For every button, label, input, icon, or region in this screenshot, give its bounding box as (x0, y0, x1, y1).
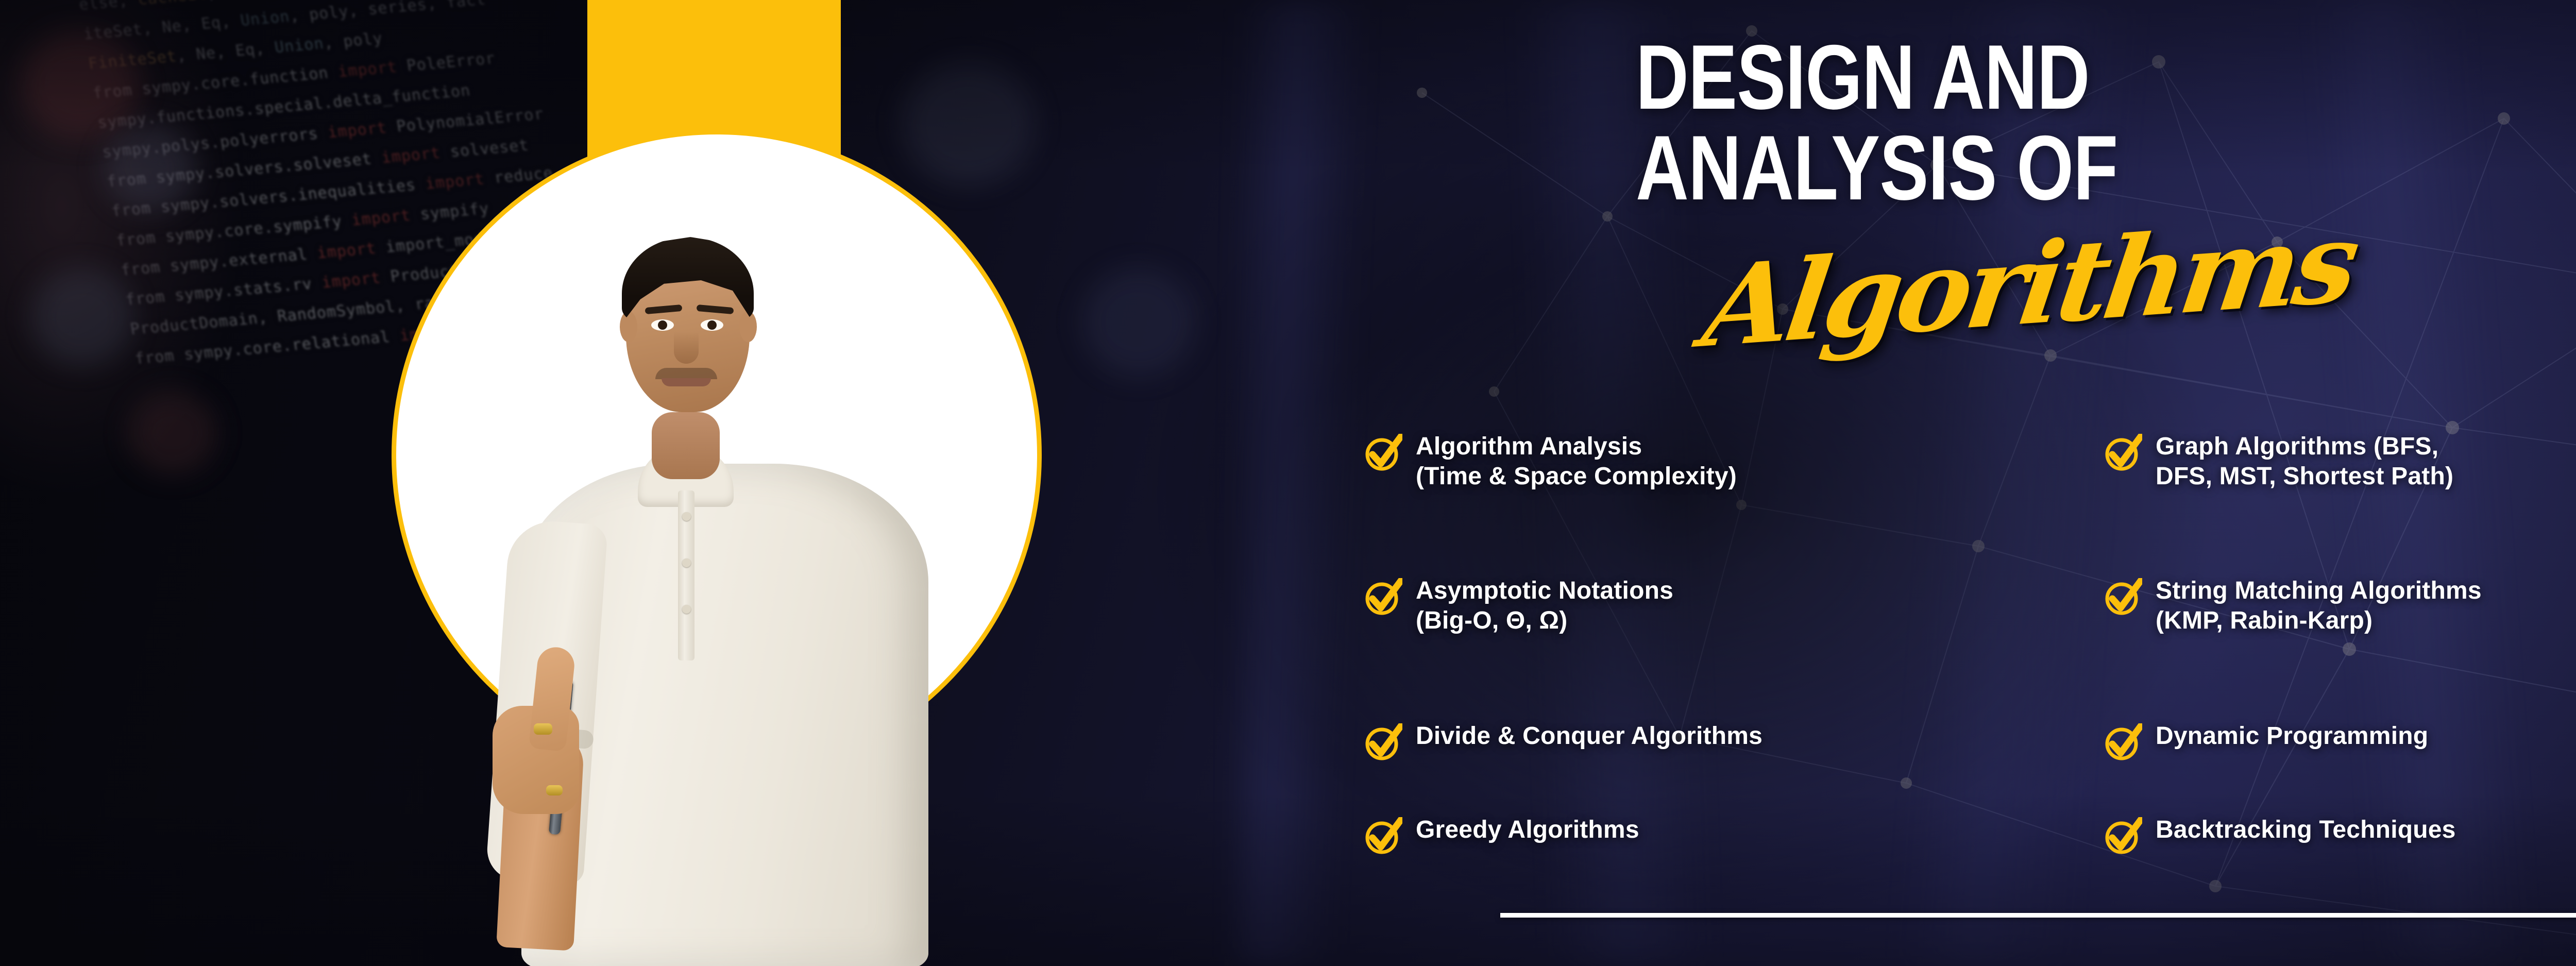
check-circle-icon (1364, 723, 1402, 761)
list-item-label: Greedy Algorithms (1416, 815, 1639, 845)
portrait-disc (392, 130, 1042, 780)
check-circle-icon (2104, 434, 2142, 472)
list-item[interactable]: Backtracking Techniques (2104, 815, 2456, 855)
list-item-label: Asymptotic Notations (Big-O, Θ, Ω) (1416, 576, 1673, 636)
list-item[interactable]: Divide & Conquer Algorithms (1364, 721, 1762, 761)
check-circle-icon (1364, 434, 1402, 472)
check-circle-icon (2104, 817, 2142, 855)
list-item[interactable]: String Matching Algorithms (KMP, Rabin-K… (2104, 576, 2482, 636)
course-banner: function, symbols, sympify, Dummy, exp, … (0, 0, 2576, 966)
list-item-label: Backtracking Techniques (2156, 815, 2456, 845)
check-circle-icon (2104, 723, 2142, 761)
page-title: DESIGN AND ANALYSIS OF (1636, 32, 2238, 213)
check-circle-icon (2104, 578, 2142, 616)
list-item[interactable]: Greedy Algorithms (1364, 815, 1639, 855)
check-circle-icon (1364, 817, 1402, 855)
instructor-portrait (392, 130, 1042, 966)
list-item[interactable]: Graph Algorithms (BFS, DFS, MST, Shortes… (2104, 432, 2453, 492)
list-item-label: Dynamic Programming (2156, 721, 2428, 751)
list-item-label: Graph Algorithms (BFS, DFS, MST, Shortes… (2156, 432, 2453, 492)
list-item-label: Algorithm Analysis (Time & Space Complex… (1416, 432, 1737, 492)
list-item[interactable]: Dynamic Programming (2104, 721, 2428, 761)
check-circle-icon (1364, 578, 1402, 616)
topics-list: Algorithm Analysis (Time & Space Complex… (1364, 432, 2576, 839)
list-item-label: Divide & Conquer Algorithms (1416, 721, 1762, 751)
title-line-1: DESIGN AND (1636, 32, 2117, 123)
list-item[interactable]: Asymptotic Notations (Big-O, Θ, Ω) (1364, 576, 1673, 636)
title-line-2: ANALYSIS OF (1636, 123, 2117, 213)
list-item[interactable]: Algorithm Analysis (Time & Space Complex… (1364, 432, 1737, 492)
horizontal-rule (1500, 913, 2576, 918)
list-item-label: String Matching Algorithms (KMP, Rabin-K… (2156, 576, 2482, 636)
